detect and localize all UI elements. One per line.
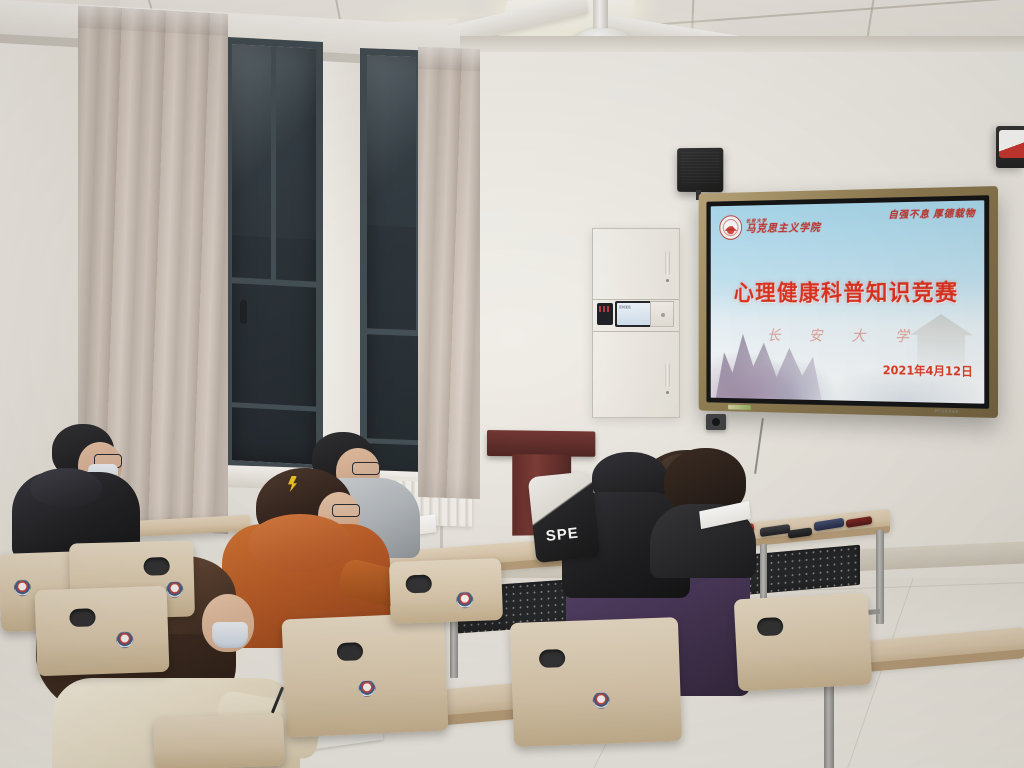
wall-ceiling-edge [440, 36, 1024, 52]
presentation-slide: 长安大学 马克思主义学院 自强不息 厚德载物 心理健康科普知识竞赛 长 安 大 … [711, 200, 985, 403]
calligraphy-banner: 自强不息 厚德载物 [888, 210, 975, 222]
slide-university-watermark: 长 安 大 学 [711, 325, 985, 347]
chair-back[interactable] [510, 617, 682, 747]
chair-back[interactable] [734, 593, 873, 692]
window-pillar [318, 28, 364, 498]
curtain-right[interactable] [418, 47, 480, 499]
logo-main-text: 马克思主义学院 [746, 223, 821, 235]
university-logo: 长安大学 马克思主义学院 [720, 214, 821, 240]
board-camera-icon [706, 414, 726, 430]
wall-clock [996, 126, 1024, 168]
classroom-photo: 控制面板 长安大学 马克思主义学院 [0, 0, 1024, 768]
cabinet-handle[interactable] [665, 363, 670, 387]
chair-emblem-icon [166, 581, 183, 598]
chair-handle-cutout [539, 649, 566, 668]
av-touch-panel[interactable]: 控制面板 [615, 301, 653, 327]
chair-back[interactable] [153, 714, 285, 768]
board-power-indicator [728, 405, 751, 410]
chair-back[interactable] [35, 586, 170, 677]
slide-date: 2021年4月12日 [883, 361, 973, 379]
chair-back[interactable] [282, 613, 449, 738]
chair-emblem-icon [116, 631, 134, 649]
chair-emblem-icon [14, 579, 32, 597]
face-mask [212, 622, 248, 648]
touch-panel-label: 控制面板 [617, 303, 651, 311]
glasses [332, 504, 360, 517]
person-student-3 [8, 424, 158, 554]
window-left [225, 37, 323, 472]
wall-speaker [677, 148, 723, 192]
hood [30, 468, 102, 508]
backpack: SPE [528, 471, 601, 563]
board-brand-label: Hisense [935, 409, 959, 416]
chair-handle-cutout [405, 574, 432, 593]
chair-emblem-icon [358, 680, 376, 698]
chair-emblem-icon [456, 591, 474, 609]
chair-handle-cutout [69, 608, 96, 627]
cabinet-handle[interactable] [665, 251, 670, 275]
backpack-label: SPE [545, 525, 580, 545]
slide-title: 心理健康科普知识竞赛 [711, 274, 985, 308]
university-seal-icon [720, 215, 743, 240]
chair-emblem-icon [592, 692, 610, 710]
chair-handle-cutout [337, 642, 364, 661]
access-keypad[interactable] [597, 303, 613, 325]
chair-back[interactable] [389, 558, 503, 624]
smart-display-board[interactable]: 长安大学 马克思主义学院 自强不息 厚德载物 心理健康科普知识竞赛 长 安 大 … [699, 186, 998, 418]
chair-handle-cutout [757, 617, 784, 636]
cabinet-lock[interactable] [650, 301, 674, 327]
window-handle[interactable] [240, 300, 247, 324]
av-control-cabinet[interactable]: 控制面板 [592, 228, 680, 418]
chair-handle-cutout [143, 557, 169, 576]
